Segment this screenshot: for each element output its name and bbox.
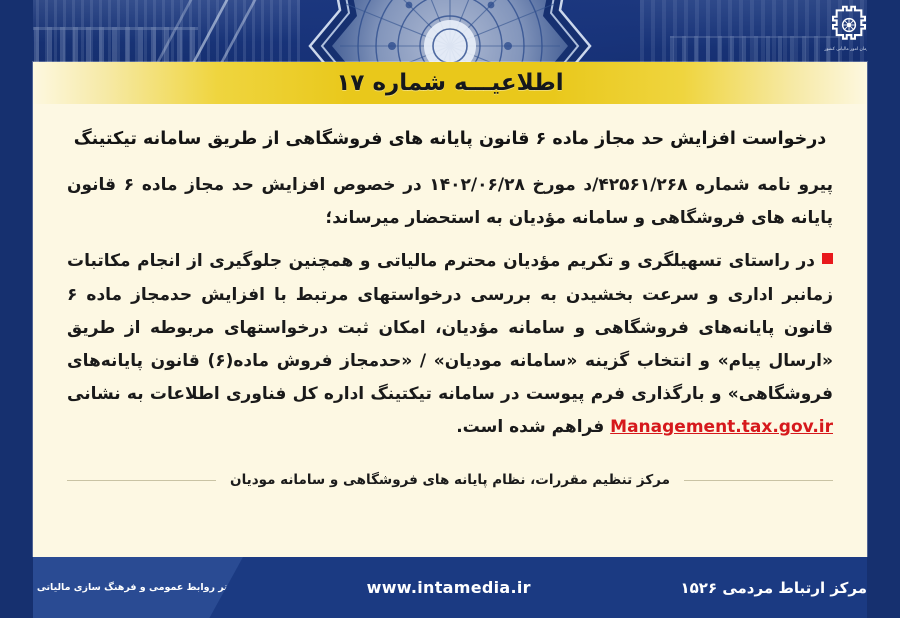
left-side-strip <box>0 0 33 618</box>
footer-contact-center: مرکز ارتباط مردمی ۱۵۲۶ <box>655 579 868 597</box>
signature-block: مرکز تنظیم مقررات، نظام پایانه های فروشگ… <box>67 472 833 488</box>
footer-inner: مرکز ارتباط مردمی ۱۵۲۶ www.intamedia.ir … <box>33 557 867 618</box>
content-card: اطلاعیـــه شماره ۱۷ درخواست افزایش حد مج… <box>33 62 867 557</box>
department-label: دفتر روابط عمومی و فرهنگ سازی مالیاتی <box>37 582 239 593</box>
footer-band: مرکز ارتباط مردمی ۱۵۲۶ www.intamedia.ir … <box>0 557 900 618</box>
announcement-poster: سازمان امور مالیاتی کشور اطلاعیـــه شمار… <box>0 0 900 618</box>
signature-rule-right <box>684 480 833 481</box>
persian-shamseh-medallion-icon <box>300 0 600 70</box>
website-label[interactable]: www.intamedia.ir <box>367 578 531 597</box>
lead-paragraph: پیرو نامه شماره ۴۲۵۶۱/۲۶۸/د مورخ ۱۴۰۲/۰۶… <box>67 169 833 235</box>
management-portal-link[interactable]: Management.tax.gov.ir <box>610 411 833 444</box>
right-side-strip <box>867 0 900 618</box>
contact-center-label: مرکز ارتباط مردمی ۱۵۲۶ <box>681 579 868 597</box>
bullet-text-part2: فراهم شده است. <box>456 417 610 437</box>
tax-administration-logo-icon <box>826 4 872 46</box>
announcement-title: اطلاعیـــه شماره ۱۷ <box>336 72 563 95</box>
header-band: سازمان امور مالیاتی کشور <box>0 0 900 70</box>
bullet-text-part1: در راستای تسهیلگری و تکریم مؤدیان محترم … <box>67 251 833 404</box>
signature-text: مرکز تنظیم مقررات، نظام پایانه های فروشگ… <box>216 472 684 488</box>
announcement-title-banner: اطلاعیـــه شماره ۱۷ <box>33 62 867 104</box>
red-square-bullet-icon <box>822 253 833 264</box>
card-body: درخواست افزایش حد مجاز ماده ۶ قانون پایا… <box>33 104 867 488</box>
announcement-subtitle: درخواست افزایش حد مجاز ماده ۶ قانون پایا… <box>67 126 833 153</box>
footer-department: دفتر روابط عمومی و فرهنگ سازی مالیاتی <box>33 557 243 618</box>
bullet-paragraph: در راستای تسهیلگری و تکریم مؤدیان محترم … <box>67 245 833 444</box>
signature-rule-left <box>67 480 216 481</box>
footer-website: www.intamedia.ir <box>243 578 655 597</box>
